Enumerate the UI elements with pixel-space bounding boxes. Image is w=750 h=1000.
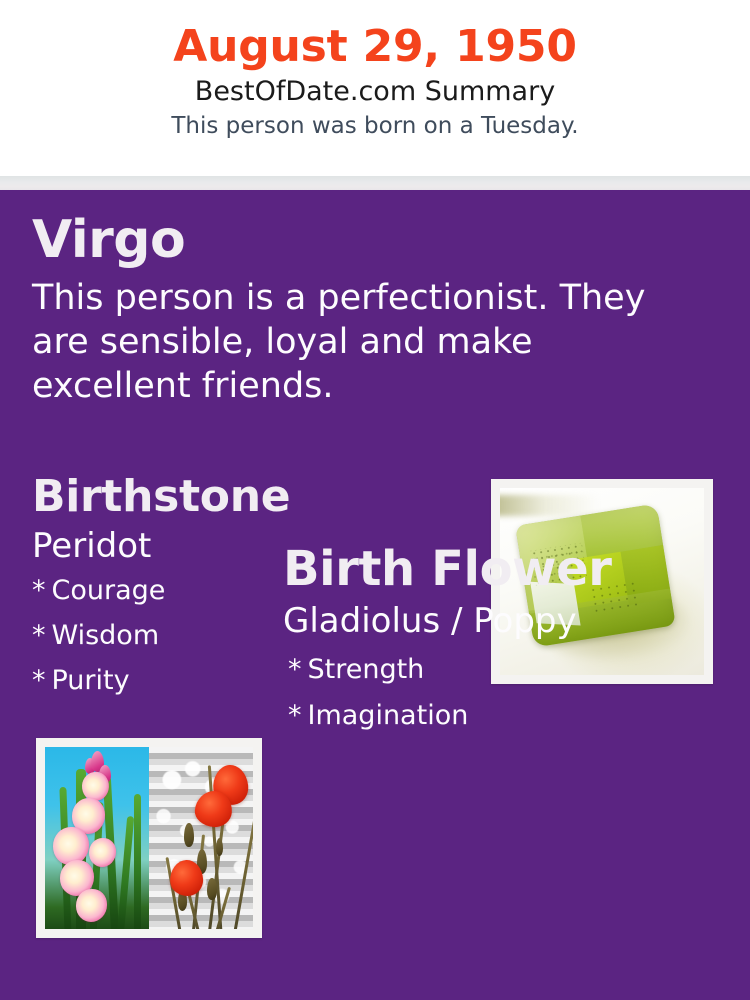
birth-flower-trait-label: Imagination (308, 700, 469, 731)
asterisk-icon: * (288, 702, 302, 729)
zodiac-sign-name: Virgo (32, 214, 692, 266)
gladiolus-photo-icon (45, 747, 149, 929)
poppy-seedpod (184, 823, 193, 847)
flower-diptych (45, 747, 253, 929)
birth-flower-trait-list: *Strength *Imagination (283, 656, 713, 729)
birthstone-trait-label: Courage (52, 575, 166, 606)
header-divider (0, 176, 750, 190)
poppy-photo-icon (149, 747, 253, 929)
birth-flower-image-frame (36, 738, 262, 938)
asterisk-icon: * (32, 667, 46, 694)
list-item: *Strength (288, 656, 713, 683)
birth-flower-section: Birth Flower Gladiolus / Poppy *Strength… (283, 545, 713, 748)
asterisk-icon: * (288, 656, 302, 683)
asterisk-icon: * (32, 622, 46, 649)
poppy-seedpod (216, 838, 223, 856)
zodiac-section: Virgo This person is a perfectionist. Th… (32, 214, 692, 408)
summary-page: August 29, 1950 BestOfDate.com Summary T… (0, 0, 750, 1000)
gem-backdrop-streak (500, 495, 598, 516)
poppy-stem (232, 811, 253, 929)
flower-stem (134, 794, 140, 929)
gladiolus-bloom (89, 838, 116, 867)
poppy-seedpod (207, 878, 216, 900)
list-item: *Imagination (288, 702, 713, 729)
gladiolus-bloom (76, 889, 107, 922)
birth-flower-image (45, 747, 253, 929)
birth-flower-trait-label: Strength (308, 654, 425, 685)
day-of-week-text: This person was born on a Tuesday. (0, 112, 750, 141)
birthstone-title: Birthstone (32, 475, 472, 519)
site-summary-label: BestOfDate.com Summary (0, 75, 750, 109)
page-title-date: August 29, 1950 (0, 22, 750, 71)
flower-stem (117, 816, 135, 929)
birth-flower-name: Gladiolus / Poppy (283, 603, 713, 640)
asterisk-icon: * (32, 577, 46, 604)
birthstone-trait-label: Purity (52, 665, 130, 696)
birthstone-trait-label: Wisdom (52, 620, 160, 651)
zodiac-description: This person is a perfectionist. They are… (32, 276, 672, 408)
page-header: August 29, 1950 BestOfDate.com Summary T… (0, 0, 750, 176)
birth-flower-title: Birth Flower (283, 545, 713, 593)
